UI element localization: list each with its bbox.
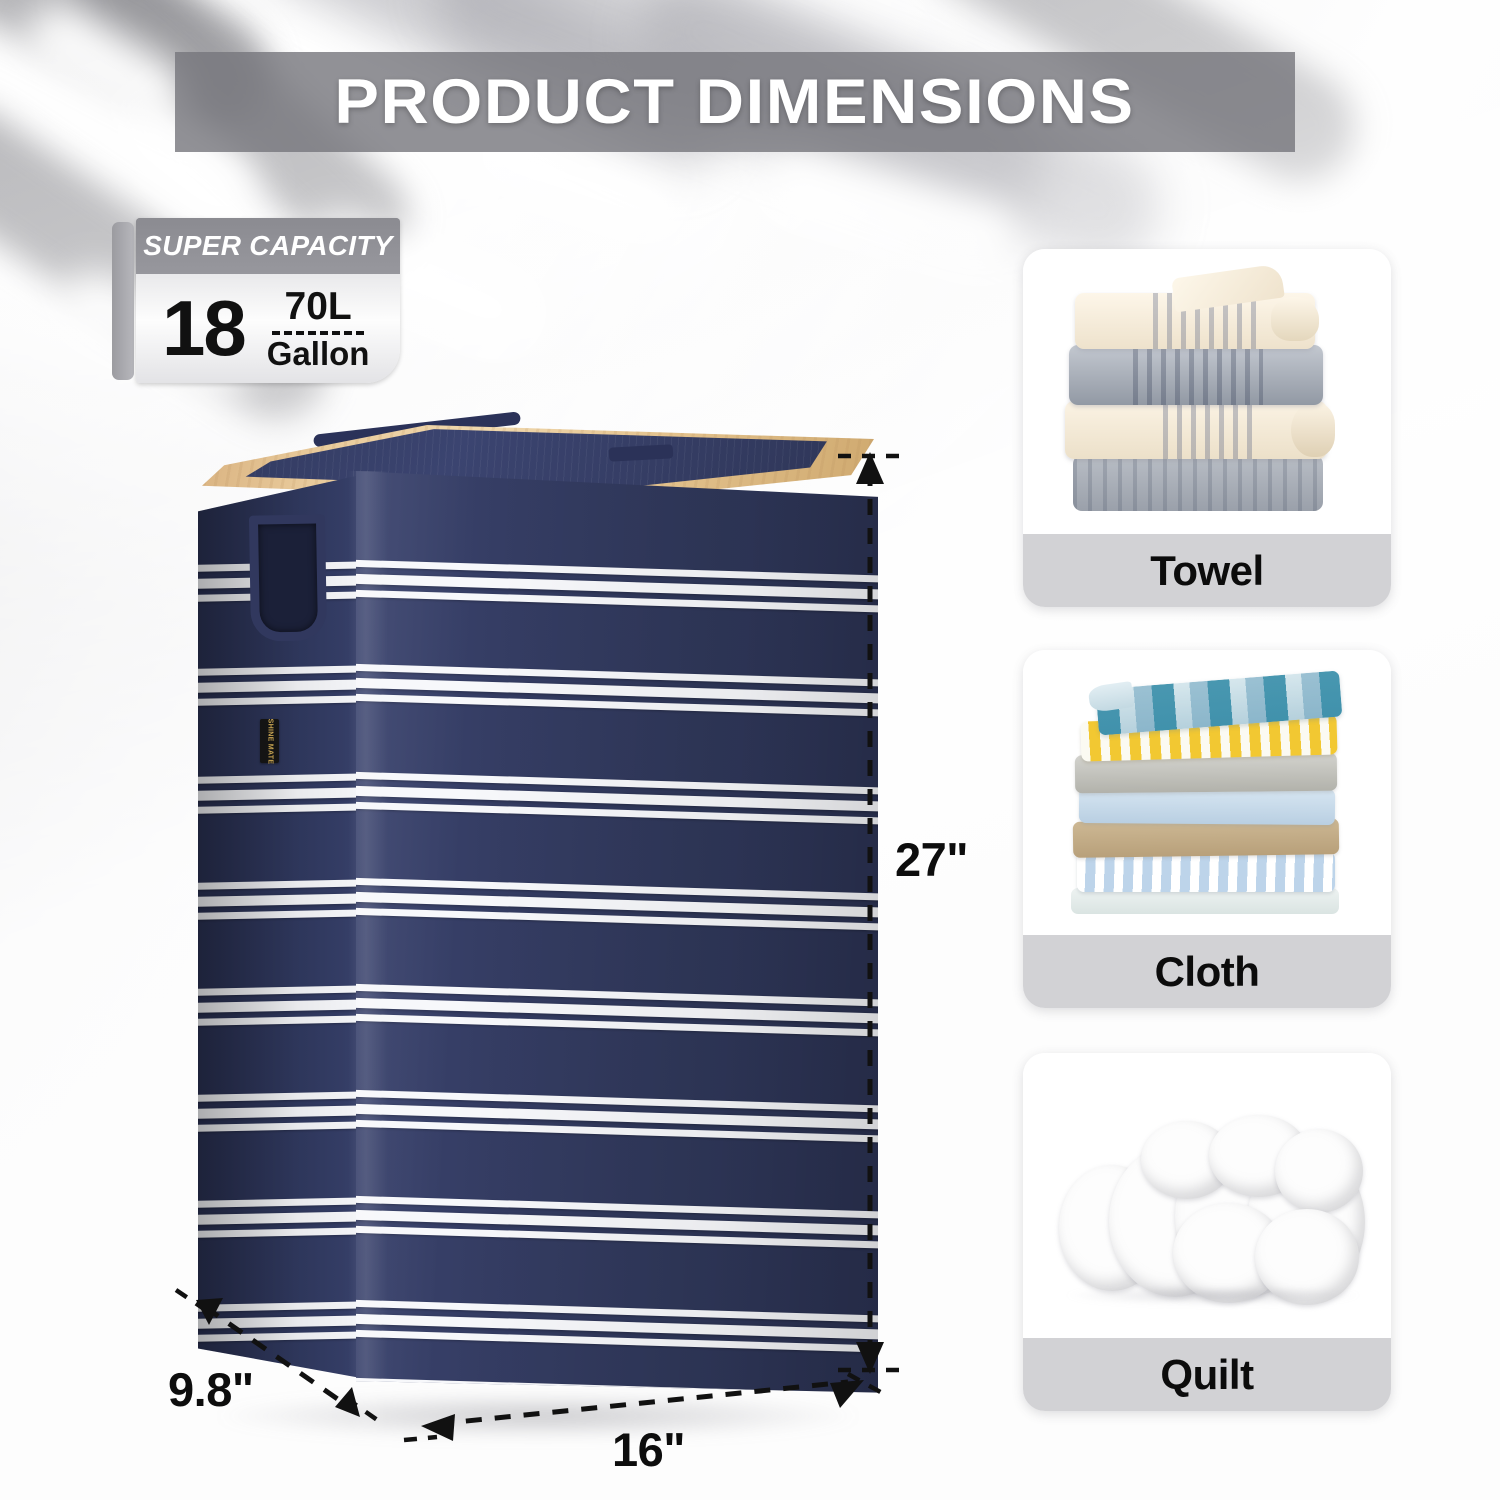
brand-tag-text: SHINE MATE: [266, 718, 273, 764]
cloth-card-caption: Cloth: [1023, 935, 1391, 1008]
hamper-side-handle: [249, 514, 327, 641]
page-title: PRODUCT DIMENSIONS: [335, 66, 1135, 138]
brand-tag: SHINE MATE: [260, 719, 279, 763]
corner-highlight: [348, 471, 388, 1431]
badge-unit-group: 70L Gallon: [267, 287, 370, 370]
use-case-label: Towel: [1150, 547, 1263, 595]
badge-heading-text: SUPER CAPACITY: [143, 230, 393, 262]
height-dimension-label: 27": [895, 832, 968, 887]
quilt-card-caption: Quilt: [1023, 1338, 1391, 1411]
fabric-stripe: [356, 1391, 878, 1418]
badge-capacity-number: 18: [162, 293, 245, 363]
badge-header: SUPER CAPACITY: [136, 218, 400, 274]
badge-volume-liters: 70L: [285, 287, 352, 326]
depth-dimension-label: 9.8": [168, 1362, 254, 1417]
laundry-hamper-product: SHINE MATE: [198, 425, 878, 1425]
use-case-card-cloth[interactable]: Cloth: [1023, 650, 1391, 1008]
lid-front-tab: [608, 444, 672, 461]
badge-unit-gallon: Gallon: [267, 337, 370, 370]
width-dimension-label: 16": [612, 1422, 685, 1477]
page-title-banner: PRODUCT DIMENSIONS: [175, 52, 1295, 152]
towel-stack-icon: [1023, 249, 1391, 534]
hamper-front-face: [356, 471, 878, 1431]
hamper-body: SHINE MATE: [198, 471, 878, 1431]
use-case-label: Cloth: [1155, 948, 1260, 996]
use-case-card-quilt[interactable]: Quilt: [1023, 1053, 1391, 1411]
badge-card: SUPER CAPACITY 18 70L Gallon: [136, 218, 400, 383]
front-face-shading: [356, 471, 878, 1431]
capacity-badge: SUPER CAPACITY 18 70L Gallon: [112, 218, 400, 383]
use-case-card-towel[interactable]: Towel: [1023, 249, 1391, 607]
rolled-quilt-icon: [1023, 1053, 1391, 1338]
use-case-label: Quilt: [1160, 1351, 1253, 1399]
badge-side-tab: [112, 222, 134, 380]
badge-body: 18 70L Gallon: [136, 274, 400, 383]
folded-clothes-stack-icon: [1023, 650, 1391, 935]
towel-card-caption: Towel: [1023, 534, 1391, 607]
